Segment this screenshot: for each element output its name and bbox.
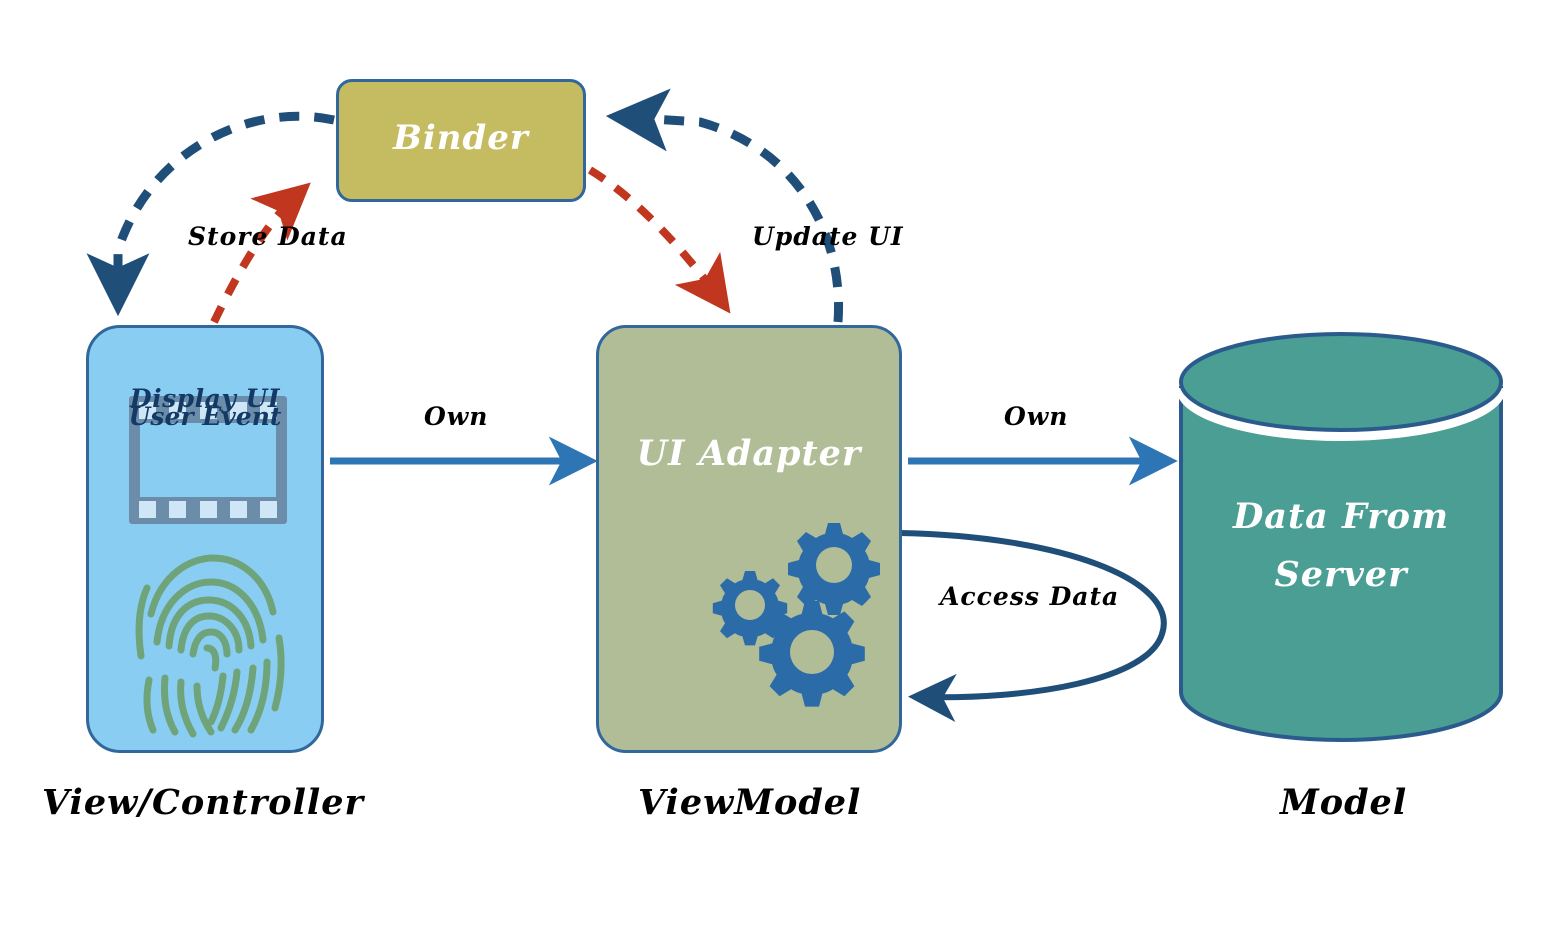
node-model[interactable]: Data From Server [1176, 330, 1506, 750]
film-sprockets-bottom [139, 501, 277, 518]
film-screen [140, 423, 276, 497]
node-viewmodel[interactable]: UI Adapter [596, 325, 902, 753]
diagram-canvas: Binder Display UI [0, 0, 1566, 934]
edge-access-data [900, 533, 1164, 697]
edge-binder-to-view [118, 116, 334, 300]
edge-label-store-data: Store Data [188, 222, 348, 251]
edge-viewmodel-to-binder [622, 117, 839, 322]
node-binder[interactable]: Binder [336, 79, 586, 202]
edge-label-update-ui: Update UI [752, 222, 904, 251]
model-inner-label: Data From Server [1176, 488, 1506, 604]
binder-title: Binder [339, 118, 583, 158]
caption-view-controller: View/Controller [42, 782, 364, 823]
ui-adapter-title: UI Adapter [599, 433, 899, 474]
node-view-controller[interactable]: Display UI [86, 325, 324, 753]
caption-model: Model [1280, 782, 1407, 823]
model-line-1: Data From [1176, 488, 1506, 546]
edge-label-own-viewmodel-model: Own [1004, 402, 1068, 431]
user-event-label: User Event [67, 402, 343, 431]
edge-label-own-view-viewmodel: Own [424, 402, 488, 431]
caption-viewmodel: ViewModel [638, 782, 861, 823]
model-line-2: Server [1176, 546, 1506, 604]
gears-icon [703, 513, 903, 713]
edge-store-data [214, 192, 300, 322]
edge-update-ui [590, 170, 722, 302]
edge-label-access-data: Access Data [940, 582, 1119, 611]
fingerprint-icon [127, 550, 291, 740]
